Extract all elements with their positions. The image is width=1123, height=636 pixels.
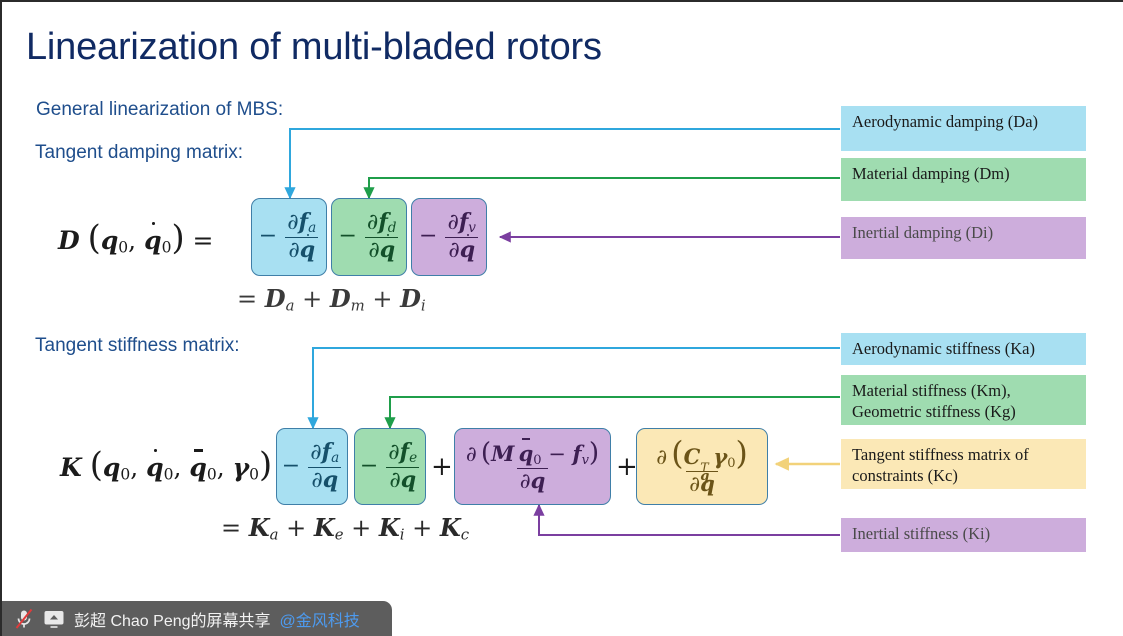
damping-term-box-Di: − ∂fv ∂q (411, 198, 487, 276)
legend-label: Inertial stiffness (Ki) (852, 524, 990, 543)
legend-aerodynamic-damping: Aerodynamic damping (Da) (841, 106, 1086, 151)
damping-equation-lhs: D (q0, q0) = (58, 218, 214, 257)
legend-label: Inertial damping (Di) (852, 223, 993, 242)
section-label-general: General linearization of MBS: (36, 99, 283, 121)
legend-tangent-stiffness-constraints: Tangent stiffness matrix of constraints … (841, 439, 1086, 489)
stiffness-term-box-Ki: ∂ (M q0 − fv) ∂q (454, 428, 611, 505)
stiffness-term-box-Ka: − ∂fa ∂q (276, 428, 348, 505)
damping-term-box-Da: − ∂fa ∂q (251, 198, 327, 276)
stiffness-plus-1: + (431, 452, 453, 482)
presenter-name: 彭超 Chao Peng的屏幕共享 (74, 607, 271, 631)
stiffness-term-box-Ke: − ∂fe ∂q (354, 428, 426, 505)
legend-label-line2: constraints (Kc) (852, 465, 1077, 486)
legend-material-geometric-stiffness: Material stiffness (Km), Geometric stiff… (841, 375, 1086, 425)
legend-inertial-stiffness: Inertial stiffness (Ki) (841, 518, 1086, 552)
legend-aerodynamic-stiffness: Aerodynamic stiffness (Ka) (841, 333, 1086, 365)
screen-share-status-bar: 彭超 Chao Peng的屏幕共享 @金风科技 (2, 601, 392, 636)
stiffness-sum-line: = Ka + Ke + Ki + Kc (221, 513, 469, 543)
legend-label: Material damping (Dm) (852, 164, 1010, 183)
stiffness-term-box-Kc: ∂ (CTqγ0) ∂q (636, 428, 768, 505)
legend-label: Aerodynamic damping (Da) (852, 112, 1038, 131)
legend-label-line1: Tangent stiffness matrix of (852, 444, 1077, 465)
stiffness-equation-lhs: K (q0, q0, q0, γ0) = (60, 445, 301, 484)
legend-label-line1: Material stiffness (Km), (852, 380, 1077, 401)
legend-inertial-damping: Inertial damping (Di) (841, 217, 1086, 259)
label-tangent-damping-matrix: Tangent damping matrix: (35, 142, 243, 164)
damping-sum-line: = Da + Dm + Di (237, 284, 426, 314)
microphone-muted-icon[interactable] (14, 608, 34, 630)
presenter-handle: @金风科技 (280, 607, 360, 631)
legend-material-damping: Material damping (Dm) (841, 158, 1086, 201)
slide-screen: Linearization of multi-bladed rotors Gen… (0, 0, 1123, 636)
damping-term-box-Dm: − ∂fd ∂q (331, 198, 407, 276)
screen-share-icon[interactable] (43, 609, 65, 629)
stiffness-plus-2: + (616, 452, 638, 482)
legend-label-line2: Geometric stiffness (Kg) (852, 401, 1077, 422)
label-tangent-stiffness-matrix: Tangent stiffness matrix: (35, 335, 240, 357)
legend-label: Aerodynamic stiffness (Ka) (852, 339, 1035, 358)
page-title: Linearization of multi-bladed rotors (26, 24, 602, 70)
